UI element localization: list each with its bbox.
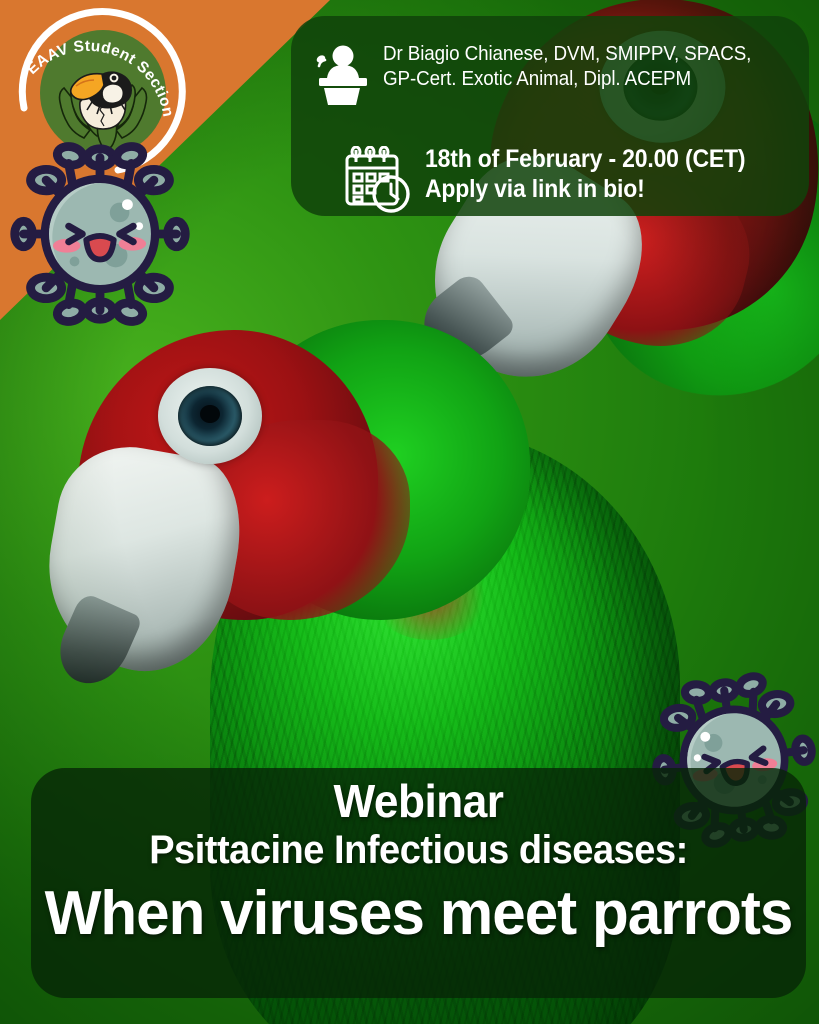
event-info-box: Dr Biagio Chianese, DVM, SMIPPV, SPACS, … — [291, 16, 809, 216]
title-headline: When viruses meet parrots — [43, 874, 795, 954]
title-text-stack: Webinar Psittacine Infectious diseases: … — [31, 768, 806, 998]
speaker-name-text: Dr Biagio Chianese, DVM, SMIPPV, SPACS, … — [383, 42, 767, 92]
virus-mouth — [86, 236, 113, 260]
webinar-poster: EAAV Student Section — [0, 0, 819, 1024]
schedule-row: 18th of February - 20.00 (CET) Apply via… — [339, 144, 791, 221]
title-subtitle: Psittacine Infectious diseases: — [50, 826, 786, 874]
virus-mascot-icon-left — [2, 136, 198, 332]
logo-ring-text: EAAV Student Section — [23, 38, 176, 119]
speaker-row: Dr Biagio Chianese, DVM, SMIPPV, SPACS, … — [313, 42, 791, 111]
schedule-text: 18th of February - 20.00 (CET) Apply via… — [425, 144, 819, 204]
schedule-line-1: 18th of February - 20.00 (CET) — [425, 144, 811, 174]
schedule-line-2: Apply via link in bio! — [425, 174, 811, 204]
calendar-clock-icon — [339, 146, 417, 221]
lecturer-podium-icon — [313, 44, 371, 111]
title-kicker: Webinar — [47, 768, 791, 826]
svg-text:EAAV Student Section: EAAV Student Section — [23, 38, 176, 119]
